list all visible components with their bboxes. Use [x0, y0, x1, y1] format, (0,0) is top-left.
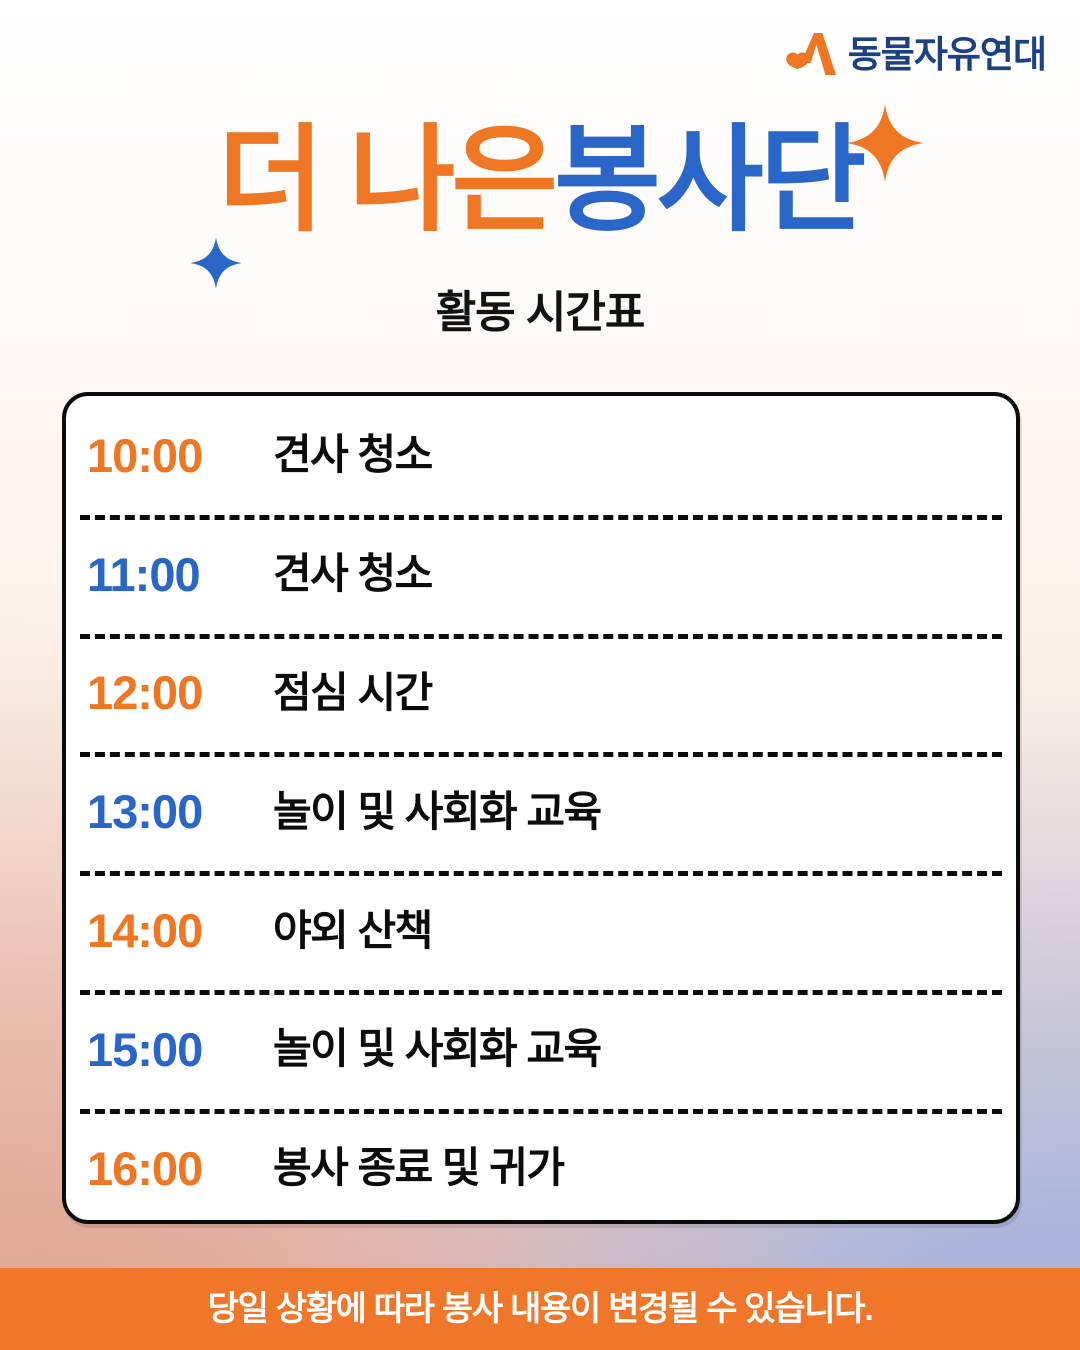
table-row: 11:00 견사 청소: [66, 515, 1016, 634]
row-time: 15:00: [87, 1026, 257, 1073]
poster-canvas: 동물자유연대 더 나은봉사단 활동 시간표 10:00 견사 청소 11:00 …: [0, 0, 1080, 1350]
row-activity: 봉사 종료 및 귀가: [257, 1147, 564, 1189]
table-row: 13:00 놀이 및 사회화 교육: [66, 752, 1016, 871]
row-activity: 점심 시간: [257, 672, 432, 714]
row-activity: 견사 청소: [257, 434, 432, 476]
title-part-1: 더 나은: [218, 115, 554, 245]
row-time: 12:00: [87, 669, 257, 716]
schedule-card: 10:00 견사 청소 11:00 견사 청소 12:00 점심 시간 13:0…: [62, 392, 1020, 1224]
row-activity: 놀이 및 사회화 교육: [257, 1028, 601, 1070]
row-activity: 놀이 및 사회화 교육: [257, 791, 601, 833]
row-time: 11:00: [87, 551, 257, 598]
brand-logo: 동물자유연대: [786, 30, 1046, 78]
row-activity: 야외 산책: [257, 910, 432, 952]
table-row: 10:00 견사 청소: [66, 396, 1016, 515]
row-time: 10:00: [87, 432, 257, 479]
table-row: 14:00 야외 산책: [66, 871, 1016, 990]
footer-banner: 당일 상황에 따라 봉사 내용이 변경될 수 있습니다.: [0, 1268, 1080, 1350]
row-activity: 견사 청소: [257, 553, 432, 595]
table-row: 12:00 점심 시간: [66, 634, 1016, 753]
title-block: 더 나은봉사단: [0, 118, 1080, 243]
table-row: 16:00 봉사 종료 및 귀가: [66, 1109, 1016, 1224]
brand-wordmark: 동물자유연대: [848, 36, 1046, 73]
footer-note: 당일 상황에 따라 봉사 내용이 변경될 수 있습니다.: [208, 1292, 873, 1326]
title-part-2: 봉사단: [554, 115, 862, 245]
page-subtitle: 활동 시간표: [0, 276, 1080, 340]
table-row: 15:00 놀이 및 사회화 교육: [66, 990, 1016, 1109]
page-title: 더 나은봉사단: [218, 118, 863, 243]
row-time: 14:00: [87, 907, 257, 954]
kaws-heart-a-mark-icon: [786, 30, 836, 78]
row-time: 16:00: [87, 1145, 257, 1192]
row-time: 13:00: [87, 788, 257, 835]
